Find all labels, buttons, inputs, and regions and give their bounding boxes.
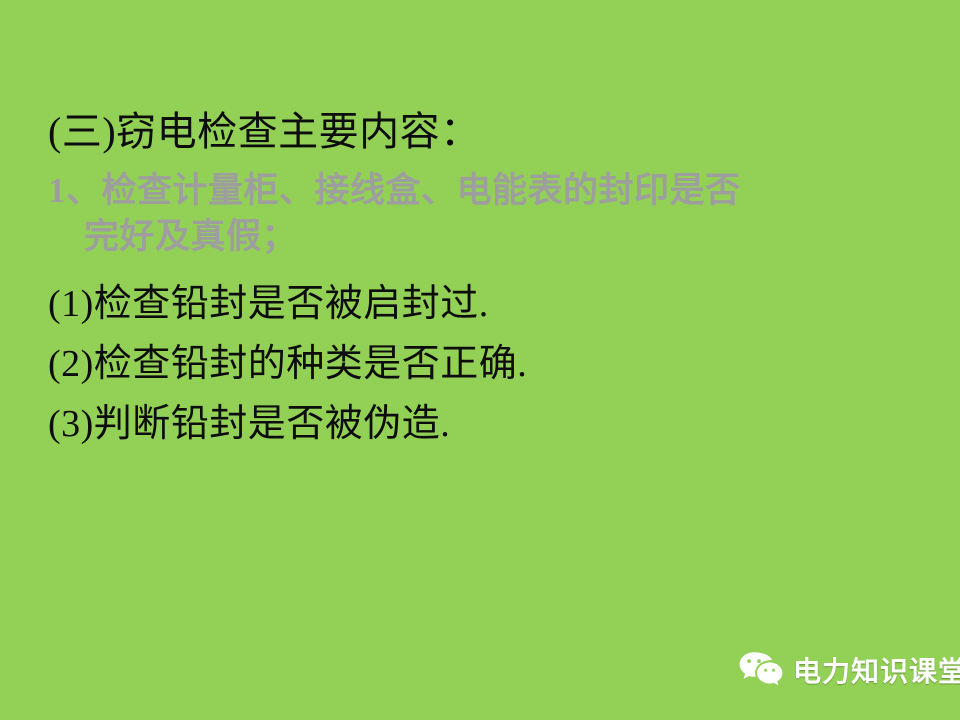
- page-title: (三)窃电检查主要内容：: [48, 104, 924, 160]
- faded-heading-line-2: 完好及真假；: [48, 214, 924, 260]
- slide-content-body: (三)窃电检查主要内容： 1、检查计量柜、接线盒、电能表的封印是否 完好及真假；…: [48, 104, 924, 454]
- list-item-2: (2)检查铅封的种类是否正确.: [48, 334, 924, 394]
- watermark: 电力知识课堂: [738, 650, 960, 690]
- wechat-icon: [738, 650, 784, 690]
- presentation-slide: (三)窃电检查主要内容： 1、检查计量柜、接线盒、电能表的封印是否 完好及真假；…: [0, 0, 960, 720]
- faded-heading-line-1: 1、检查计量柜、接线盒、电能表的封印是否: [48, 168, 924, 214]
- list-item-3: (3)判断铅封是否被伪造.: [48, 394, 924, 454]
- faded-heading-block: 1、检查计量柜、接线盒、电能表的封印是否 完好及真假；: [48, 168, 924, 260]
- watermark-label: 电力知识课堂: [793, 650, 960, 690]
- list-item-1: (1)检查铅封是否被启封过.: [48, 274, 924, 334]
